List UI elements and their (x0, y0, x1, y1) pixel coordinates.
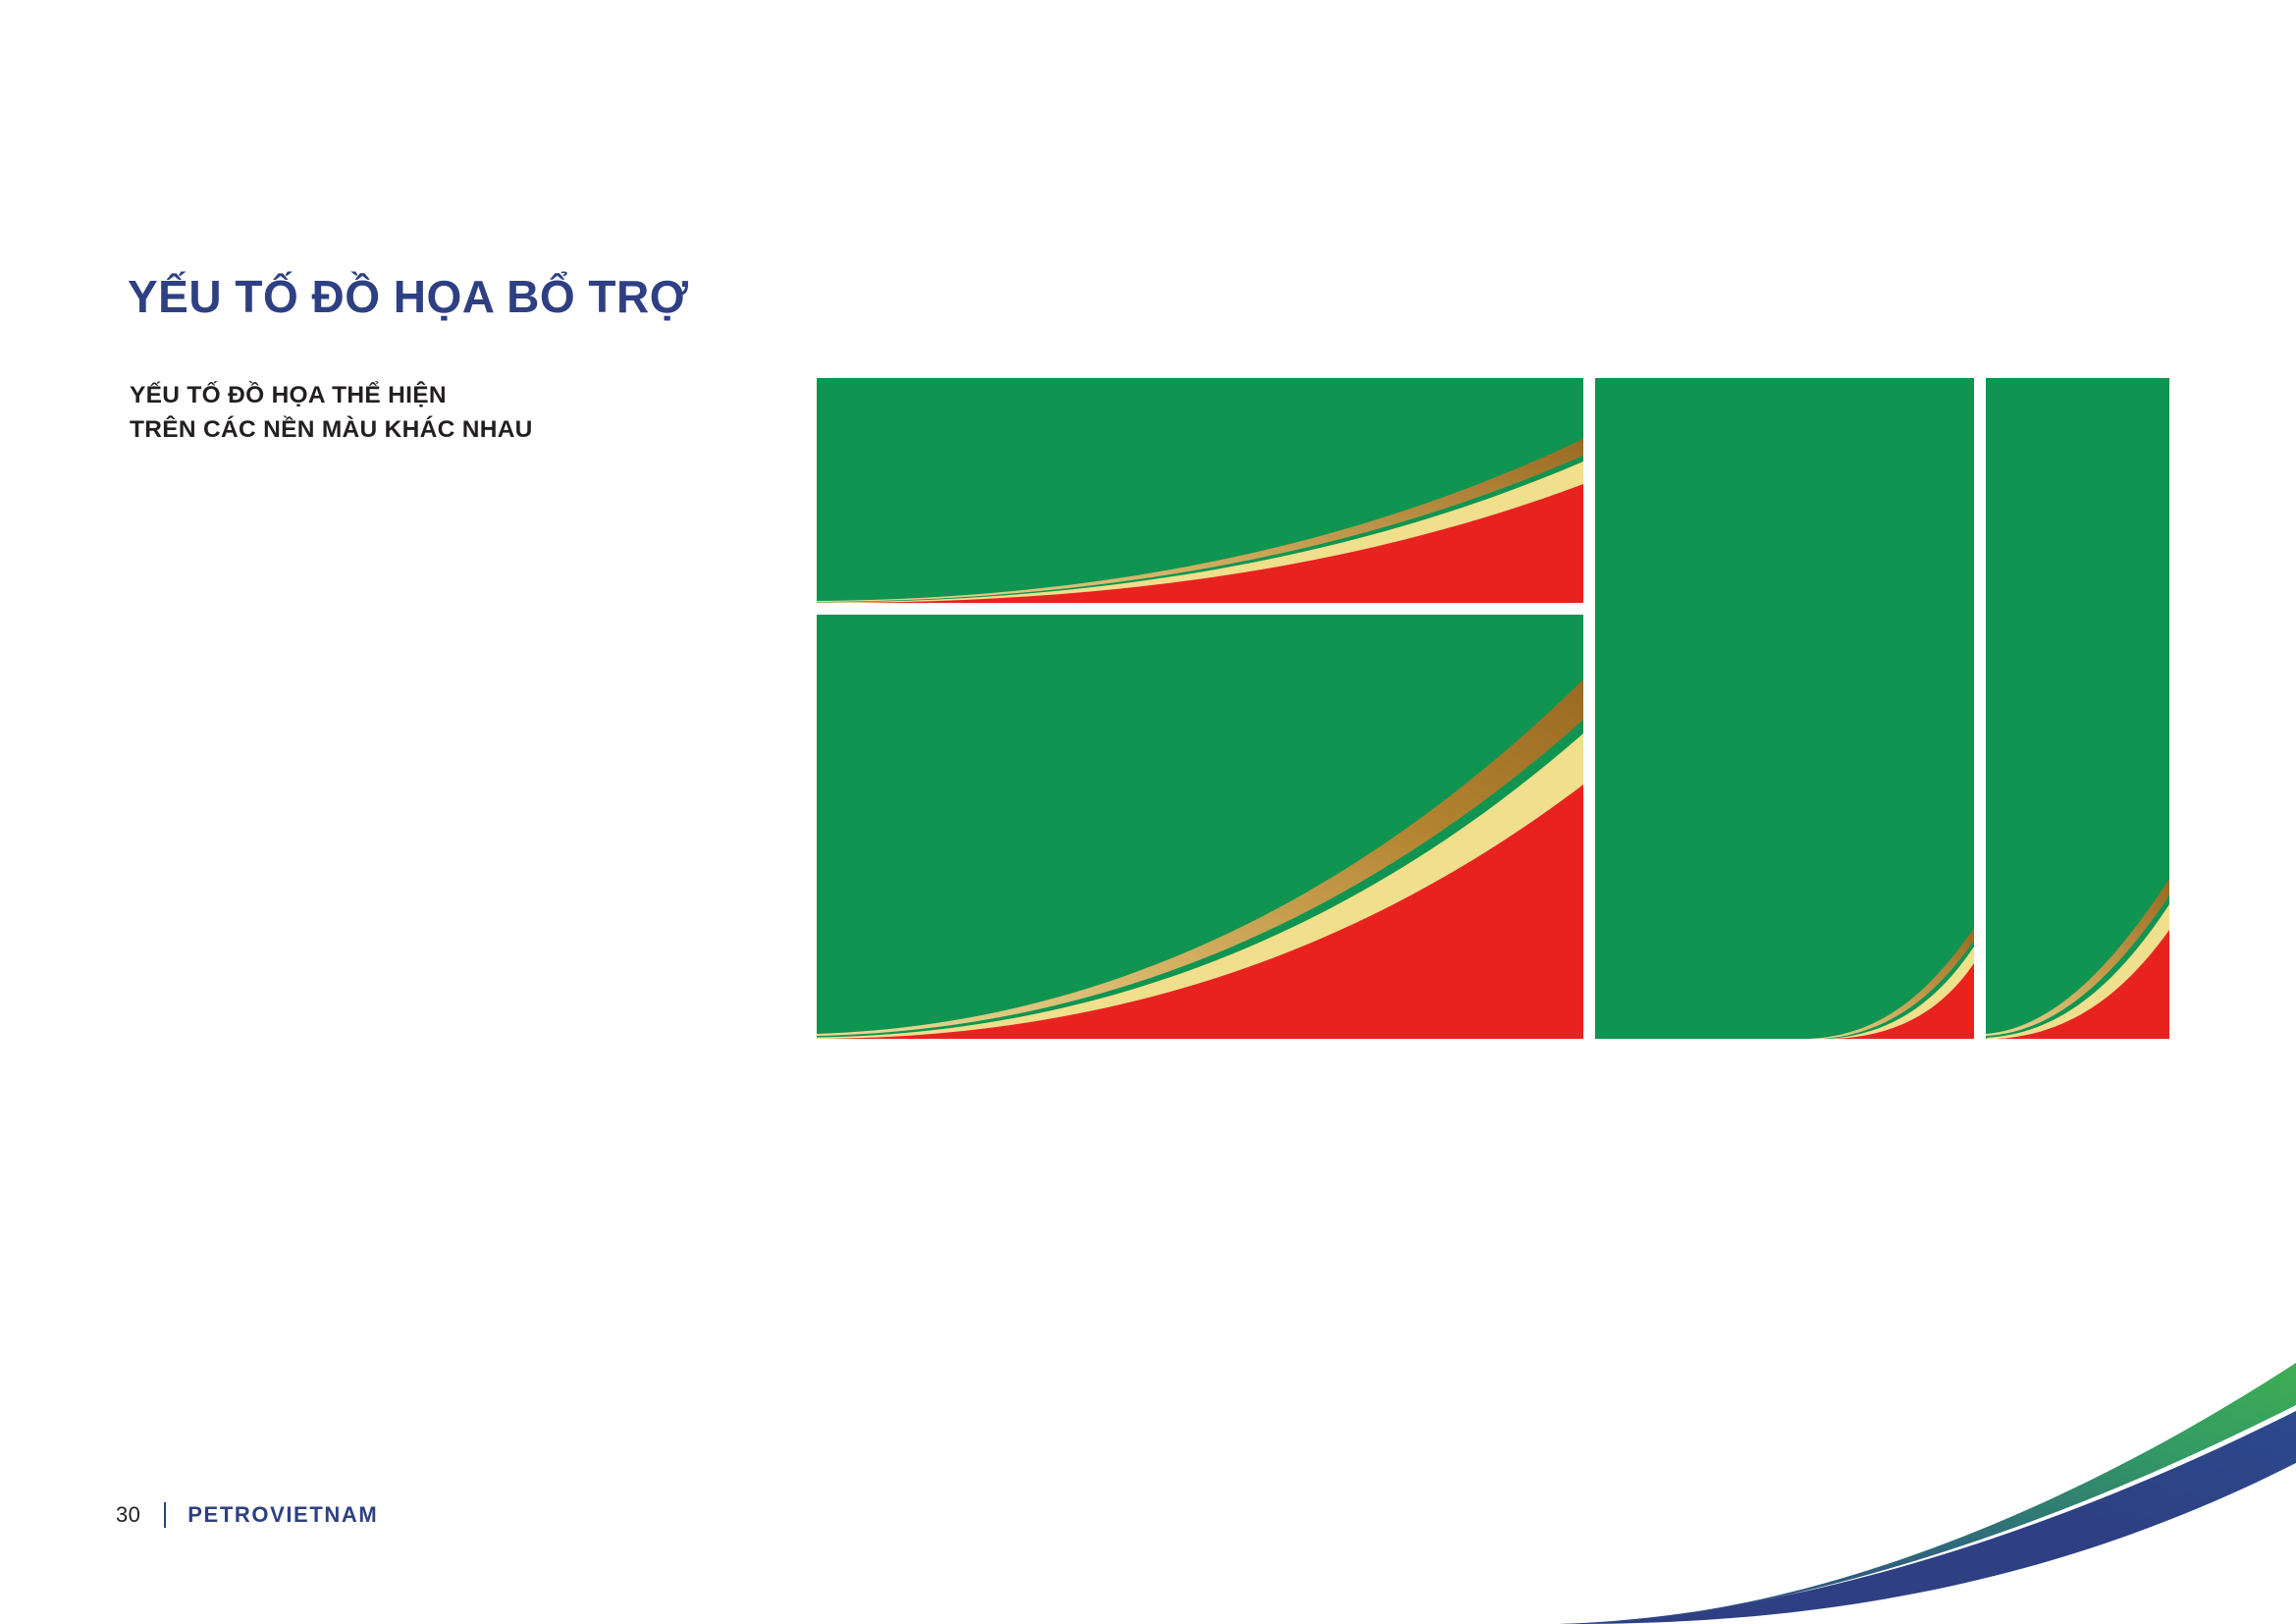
swoosh-graphic-icon (817, 378, 1583, 603)
swatch-panel-narrow-right (1986, 378, 2169, 1039)
footer: 30 PETROVIETNAM (116, 1500, 378, 1530)
graphic-swatch-grid (817, 378, 2169, 1039)
swatch-panel-large-top-left (817, 378, 1583, 603)
swatch-panel-large-bottom-left (817, 615, 1583, 1039)
section-subtitle: YẾU TỐ ĐỒ HỌA THỂ HIỆN TRÊN CÁC NỀN MÀU … (130, 379, 533, 448)
swatch-panel-tall-middle (1595, 378, 1974, 1039)
swoosh-graphic-icon (1595, 378, 1974, 1039)
swoosh-graphic-icon (817, 615, 1583, 1039)
footer-brand-label: PETROVIETNAM (187, 1502, 378, 1528)
footer-divider-icon (164, 1502, 166, 1528)
page-canvas: YẾU TỐ ĐỒ HỌA BỔ TRỢ YẾU TỐ ĐỒ HỌA THỂ H… (0, 0, 2296, 1624)
footer-page-number: 30 (116, 1502, 140, 1528)
page-title: YẾU TỐ ĐỒ HỌA BỔ TRỢ (128, 274, 688, 319)
page-corner-swoosh-icon (1413, 1329, 2296, 1624)
swoosh-graphic-icon (1986, 378, 2169, 1039)
